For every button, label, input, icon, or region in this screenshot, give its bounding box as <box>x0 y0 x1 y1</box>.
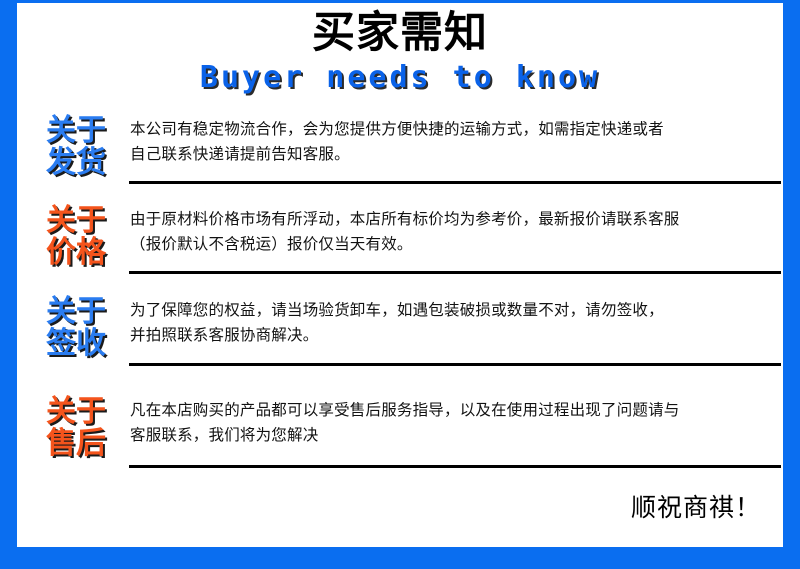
section-divider <box>129 363 781 366</box>
section-text-line: 并拍照联系客服协商解决。 <box>130 323 800 348</box>
notice-section-price: 关于 价格 由于原材料价格市场有所浮动，本店所有标价均为参考价，最新报价请联系客… <box>17 203 800 270</box>
notice-section-receiving: 关于 签收 为了保障您的权益，请当场验货卸车，如遇包装破损或数量不对，请勿签收，… <box>17 294 800 361</box>
frame-right-border <box>783 0 800 569</box>
page-title-cn: 买家需知 <box>17 9 783 57</box>
section-text-line: 客服联系，我们将为您解决 <box>130 423 800 448</box>
section-body-price: 由于原材料价格市场有所浮动，本店所有标价均为参考价，最新报价请联系客服 （报价默… <box>115 203 800 257</box>
notice-content: 买家需知 Buyer needs to know 关于 发货 本公司有稳定物流合… <box>17 3 783 547</box>
section-text-line: 凡在本店购买的产品都可以享受售后服务指导，以及在使用过程出现了问题请与 <box>130 398 800 423</box>
section-body-receiving: 为了保障您的权益，请当场验货卸车，如遇包装破损或数量不对，请勿签收， 并拍照联系… <box>115 294 800 348</box>
section-label-price: 关于 价格 <box>37 203 115 270</box>
section-label-line2: 售后 <box>37 428 115 460</box>
notice-section-aftersales: 关于 售后 凡在本店购买的产品都可以享受售后服务指导，以及在使用过程出现了问题请… <box>17 394 800 461</box>
section-divider <box>129 181 781 184</box>
section-divider <box>129 465 781 468</box>
section-text-line: 由于原材料价格市场有所浮动，本店所有标价均为参考价，最新报价请联系客服 <box>130 207 800 232</box>
frame-bottom-border <box>0 547 800 569</box>
notice-section-shipping: 关于 发货 本公司有稳定物流合作，会为您提供方便快捷的运输方式，如需指定快递或者… <box>17 113 800 180</box>
section-text-line: 本公司有稳定物流合作，会为您提供方便快捷的运输方式，如需指定快递或者 <box>130 117 800 142</box>
section-divider <box>129 271 781 274</box>
section-label-shipping: 关于 发货 <box>37 113 115 180</box>
section-label-line2: 价格 <box>37 237 115 269</box>
section-label-line1: 关于 <box>37 396 115 428</box>
section-text-line: 为了保障您的权益，请当场验货卸车，如遇包装破损或数量不对，请勿签收， <box>130 298 800 323</box>
section-label-line1: 关于 <box>37 205 115 237</box>
section-body-aftersales: 凡在本店购买的产品都可以享受售后服务指导，以及在使用过程出现了问题请与 客服联系… <box>115 394 800 448</box>
closing-greeting: 顺祝商祺！ <box>631 488 761 524</box>
section-text-line: 自己联系快递请提前告知客服。 <box>130 142 800 167</box>
notice-header: 买家需知 Buyer needs to know <box>17 3 783 97</box>
section-label-line1: 关于 <box>37 115 115 147</box>
section-label-line1: 关于 <box>37 296 115 328</box>
frame-left-border <box>0 0 17 569</box>
section-label-line2: 签收 <box>37 328 115 360</box>
section-text-line: （报价默认不含税运）报价仅当天有效。 <box>130 232 800 257</box>
buyer-notice-banner: 买家需知 Buyer needs to know 关于 发货 本公司有稳定物流合… <box>0 0 800 569</box>
section-label-aftersales: 关于 售后 <box>37 394 115 461</box>
page-title-en: Buyer needs to know <box>17 59 783 97</box>
section-body-shipping: 本公司有稳定物流合作，会为您提供方便快捷的运输方式，如需指定快递或者 自己联系快… <box>115 113 800 167</box>
section-label-receiving: 关于 签收 <box>37 294 115 361</box>
section-label-line2: 发货 <box>37 147 115 179</box>
